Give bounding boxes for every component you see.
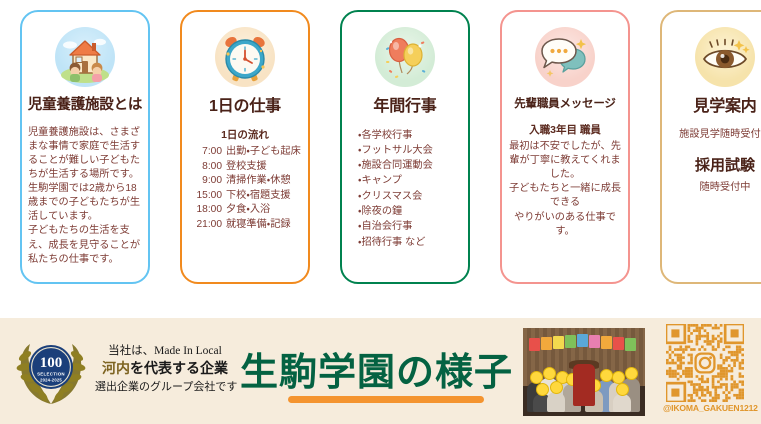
event-item: ・招待行事 など	[358, 235, 464, 250]
card-subheading: 入職3年目 職員	[506, 123, 624, 137]
card-body: 施設見学随時受付中採用試験随時受付中	[666, 128, 761, 196]
badge-number: 100	[40, 355, 63, 371]
bottom-banner: 100 SELECTION 2024-2025 当社は、Made In Loca…	[0, 318, 761, 424]
photo-garland	[529, 334, 639, 350]
instagram-qr-code[interactable]	[666, 324, 744, 402]
eye-icon	[694, 26, 756, 88]
schedule-time: 21:00	[190, 218, 222, 232]
schedule-task: 出勤・子ども起床	[226, 145, 301, 159]
balloons-icon	[374, 26, 436, 88]
garland-flag	[553, 336, 564, 349]
info-card-nenkan-gyouji: 年間行事・各学校行事・フットサル大会・施設合同運動会・キャンプ・クリスマス会・除…	[340, 10, 470, 284]
card-title: 児童養護施設とは	[28, 98, 142, 114]
schedule-row: 21:00就寝準備・記録	[186, 218, 304, 232]
badge-svg: 100 SELECTION 2024-2025	[12, 334, 90, 408]
event-item: ・各学校行事	[358, 128, 464, 143]
daily-schedule-list: 7:00出勤・子ども起床8:00登校支援9:00清掃作業・休憩15:00下校・宿…	[186, 145, 304, 232]
info-cards-row: 児童養護施設とは児童養護施設は、さまざまな事情で家庭で生活することが難しい子ども…	[0, 0, 761, 300]
company-tagline: 当社は、Made In Local 河内を代表する企業 選出企業のグループ会社で…	[95, 343, 235, 396]
smiley-face-sticker	[625, 367, 638, 380]
badge-years: 2024-2025	[40, 378, 62, 383]
schedule-task: 登校支援	[226, 160, 267, 174]
card-second-heading: 採用試験	[666, 156, 761, 177]
schedule-task: 就寝準備・記録	[226, 218, 291, 232]
garland-flag	[601, 336, 612, 349]
event-item: ・クリスマス会	[358, 189, 464, 204]
body-paragraph: やりがいのある仕事です。	[506, 211, 624, 239]
annual-events-list: ・各学校行事・フットサル大会・施設合同運動会・キャンプ・クリスマス会・除夜の鐘・…	[346, 128, 464, 250]
badge-label: SELECTION	[37, 372, 65, 377]
smiley-face-sticker	[543, 367, 556, 380]
card-body: ・各学校行事・フットサル大会・施設合同運動会・キャンプ・クリスマス会・除夜の鐘・…	[346, 128, 464, 250]
photo-child-figure	[613, 394, 631, 412]
info-line: 施設見学随時受付中	[666, 128, 761, 142]
instagram-qr-block[interactable]: @IKOMA_GAKUEN1212	[663, 324, 747, 413]
schedule-row: 18:00夕食・入浴	[186, 203, 304, 217]
event-item: ・施設合同運動会	[358, 158, 464, 173]
card-title: 先輩職員メッセージ	[514, 98, 615, 111]
schedule-row: 7:00出勤・子ども起床	[186, 145, 304, 159]
qr-matrix	[666, 324, 744, 402]
event-item: ・キャンプ	[358, 173, 464, 188]
event-item: ・フットサル大会	[358, 143, 464, 158]
schedule-task: 夕食・入浴	[226, 203, 270, 217]
tagline-line-2-rest: を代表する企業	[130, 362, 228, 377]
alarm-clock-icon	[214, 26, 276, 88]
schedule-time: 8:00	[190, 160, 222, 174]
tagline-line-2: 河内を代表する企業	[95, 360, 235, 380]
100-selection-badge: 100 SELECTION 2024-2025	[12, 334, 90, 408]
body-paragraph: 生駒学園では2歳から18歳までの子どもたちが生活しています。	[28, 182, 146, 224]
photo-staff-figure	[573, 364, 595, 406]
smiley-face-sticker	[550, 381, 563, 394]
card-body: 1日の流れ7:00出勤・子ども起床8:00登校支援9:00清掃作業・休憩15:0…	[186, 128, 304, 232]
card-title: 見学案内	[693, 98, 756, 116]
banner-title-wrap: 生駒学園の様子	[240, 354, 520, 403]
card-body: 入職3年目 職員最初は不安でしたが、先輩が丁寧に教えてくれました。子どもたちと一…	[506, 123, 624, 239]
body-paragraph: 子どもたちの生活を支え、成長を見守ることが私たちの仕事です。	[28, 224, 146, 266]
card-subheading: 1日の流れ	[186, 128, 304, 142]
garland-flag	[625, 338, 636, 351]
schedule-time: 7:00	[190, 145, 222, 159]
tagline-line-1: 当社は、Made In Local	[95, 343, 235, 360]
info-card-jidou-yougo-shisetsu: 児童養護施設とは児童養護施設は、さまざまな事情で家庭で生活することが難しい子ども…	[20, 10, 150, 284]
info-card-kengaku-annai: 見学案内施設見学随時受付中採用試験随時受付中	[660, 10, 761, 284]
garland-flag	[529, 338, 540, 351]
tagline-line-3: 選出企業のグループ会社です	[95, 380, 235, 396]
garland-flag	[565, 335, 576, 348]
garland-flag	[577, 334, 588, 347]
group-photo	[523, 328, 645, 416]
event-item: ・除夜の鐘	[358, 204, 464, 219]
schedule-row: 8:00登校支援	[186, 160, 304, 174]
schedule-row: 9:00清掃作業・休憩	[186, 174, 304, 188]
speech-bubbles-icon	[534, 26, 596, 88]
body-paragraph: 児童養護施設は、さまざまな事情で家庭で生活することが難しい子どもたちが生活する場…	[28, 126, 146, 182]
schedule-task: 下校・宿題支援	[226, 189, 291, 203]
banner-title: 生駒学園の様子	[240, 354, 520, 392]
smiley-face-sticker	[616, 383, 629, 396]
body-paragraph: 最初は不安でしたが、先輩が丁寧に教えてくれました。	[506, 140, 624, 182]
house-with-children-icon	[54, 26, 116, 88]
garland-flag	[541, 337, 552, 350]
schedule-row: 15:00下校・宿題支援	[186, 189, 304, 203]
card-title: 年間行事	[373, 98, 436, 116]
instagram-handle: @IKOMA_GAKUEN1212	[663, 403, 747, 413]
schedule-time: 9:00	[190, 174, 222, 188]
garland-flag	[589, 335, 600, 348]
info-card-senpai-shokuin-message: 先輩職員メッセージ入職3年目 職員最初は不安でしたが、先輩が丁寧に教えてくれまし…	[500, 10, 630, 284]
smiley-face-sticker	[600, 369, 613, 382]
info-card-ichinichi-no-shigoto: 1日の仕事1日の流れ7:00出勤・子ども起床8:00登校支援9:00清掃作業・休…	[180, 10, 310, 284]
garland-flag	[613, 337, 624, 350]
schedule-task: 清掃作業・休憩	[226, 174, 291, 188]
smiley-face-sticker	[536, 383, 549, 396]
card-title: 1日の仕事	[209, 98, 281, 116]
body-paragraph: 子どもたちと一緒に成長できる	[506, 182, 624, 210]
tagline-accent: 河内	[102, 362, 130, 377]
event-item: ・自治会行事	[358, 219, 464, 234]
schedule-time: 18:00	[190, 203, 222, 217]
card-body: 児童養護施設は、さまざまな事情で家庭で生活することが難しい子どもたちが生活する場…	[24, 126, 146, 267]
info-line: 随時受付中	[666, 181, 761, 195]
banner-title-underline	[288, 396, 484, 403]
photo-child-figure	[547, 392, 565, 412]
schedule-time: 15:00	[190, 189, 222, 203]
spacer	[666, 142, 761, 156]
